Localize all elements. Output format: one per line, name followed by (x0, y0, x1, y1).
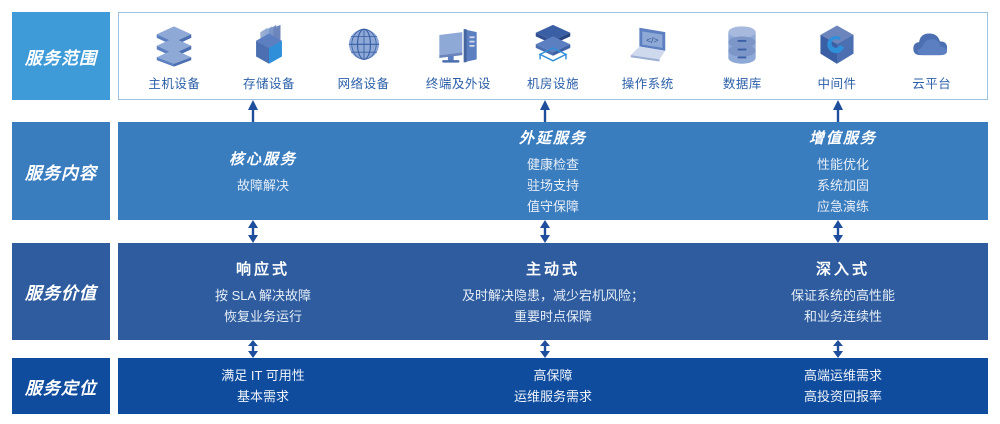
storage-array-icon (246, 22, 292, 68)
position-column-line: 高投资回报率 (804, 387, 882, 406)
cloud-platform-icon (909, 22, 955, 68)
value-column-line: 及时解决隐患，减少宕机风险； (462, 286, 644, 305)
row-label-scope-text: 服务范围 (25, 44, 97, 69)
row-label-scope: 服务范围 (12, 12, 110, 100)
scope-item-label: 中间件 (818, 73, 857, 92)
position-column-line: 满足 IT 可用性 (221, 366, 305, 385)
content-column-title: 核心服务 (229, 148, 297, 169)
content-column-line: 驻场支持 (527, 176, 579, 195)
scope-item-database[interactable]: 数据库 (695, 22, 790, 92)
svg-text:</>: </> (646, 35, 658, 45)
value-column-title: 深入式 (816, 258, 870, 279)
row-label-content-text: 服务内容 (25, 159, 97, 184)
position-column-line: 高端运维需求 (804, 366, 882, 385)
value-column-indepth[interactable]: 深入式 保证系统的高性能 和业务连续性 (698, 258, 988, 326)
value-column-title: 响应式 (236, 258, 290, 279)
value-column-line: 重要时点保障 (514, 307, 592, 326)
position-column-line: 高保障 (533, 366, 572, 385)
content-panel: 核心服务 故障解决 外延服务 健康检查 驻场支持 值守保障 增值服务 性能优化 … (118, 122, 988, 220)
scope-item-label: 主机设备 (148, 73, 200, 92)
scope-item-label: 终端及外设 (426, 73, 491, 92)
scope-item-middleware[interactable]: 中间件 (790, 22, 885, 92)
scope-item-label: 操作系统 (622, 73, 674, 92)
row-label-value-text: 服务价值 (25, 279, 97, 304)
content-column-core[interactable]: 核心服务 故障解决 (118, 148, 408, 195)
scope-item-label: 云平台 (912, 73, 951, 92)
connector-value-to-position (118, 340, 988, 358)
value-column-line: 恢复业务运行 (224, 307, 302, 326)
value-column-line: 保证系统的高性能 (791, 286, 895, 305)
desktop-terminal-icon (435, 22, 481, 68)
scope-item-terminal[interactable]: 终端及外设 (411, 22, 506, 92)
position-column-basic[interactable]: 满足 IT 可用性 基本需求 (118, 366, 408, 406)
value-column-line: 和业务连续性 (804, 307, 882, 326)
scope-item-label: 存储设备 (243, 73, 295, 92)
database-cylinder-icon (719, 22, 765, 68)
content-column-line: 健康检查 (527, 155, 579, 174)
cube-middleware-icon (814, 22, 860, 68)
value-column-proactive[interactable]: 主动式 及时解决隐患，减少宕机风险； 重要时点保障 (408, 258, 698, 326)
position-column-highend[interactable]: 高端运维需求 高投资回报率 (698, 366, 988, 406)
scope-item-host[interactable]: 主机设备 (127, 22, 222, 92)
connector-scope-to-content (118, 100, 988, 122)
value-column-responsive[interactable]: 响应式 按 SLA 解决故障 恢复业务运行 (118, 258, 408, 326)
row-label-position-text: 服务定位 (25, 374, 97, 399)
service-framework-diagram: 服务范围 主机设备 (0, 0, 1000, 424)
content-column-line: 性能优化 (817, 155, 869, 174)
content-column-line: 值守保障 (527, 197, 579, 216)
position-panel: 满足 IT 可用性 基本需求 高保障 运维服务需求 高端运维需求 高投资回报率 (118, 358, 988, 414)
value-column-line: 按 SLA 解决故障 (215, 286, 311, 305)
scope-item-label: 数据库 (723, 73, 762, 92)
position-column-line: 基本需求 (237, 387, 289, 406)
value-column-title: 主动式 (526, 258, 580, 279)
connector-content-to-value (118, 220, 988, 243)
row-label-value: 服务价值 (12, 243, 110, 340)
globe-network-icon (341, 22, 387, 68)
scope-item-storage[interactable]: 存储设备 (222, 22, 317, 92)
row-label-position: 服务定位 (12, 358, 110, 414)
position-column-line: 运维服务需求 (514, 387, 592, 406)
content-column-title: 外延服务 (519, 127, 587, 148)
scope-item-cloud[interactable]: 云平台 (884, 22, 979, 92)
server-stack-icon (151, 22, 197, 68)
scope-item-label: 机房设施 (527, 73, 579, 92)
position-column-assurance[interactable]: 高保障 运维服务需求 (408, 366, 698, 406)
scope-item-os[interactable]: </> 操作系统 (600, 22, 695, 92)
content-column-valueadd[interactable]: 增值服务 性能优化 系统加固 应急演练 (698, 127, 988, 216)
value-panel: 响应式 按 SLA 解决故障 恢复业务运行 主动式 及时解决隐患，减少宕机风险；… (118, 243, 988, 340)
scope-panel: 主机设备 存储设备 (118, 12, 988, 100)
scope-item-network[interactable]: 网络设备 (316, 22, 411, 92)
content-column-line: 系统加固 (817, 176, 869, 195)
content-column-line: 故障解决 (237, 176, 289, 195)
content-column-title: 增值服务 (809, 127, 877, 148)
scope-item-datacenter[interactable]: 机房设施 (506, 22, 601, 92)
content-column-line: 应急演练 (817, 197, 869, 216)
row-label-content: 服务内容 (12, 122, 110, 220)
scope-item-label: 网络设备 (338, 73, 390, 92)
datacenter-rack-icon (530, 22, 576, 68)
laptop-os-icon: </> (625, 22, 671, 68)
content-column-extended[interactable]: 外延服务 健康检查 驻场支持 值守保障 (408, 127, 698, 216)
